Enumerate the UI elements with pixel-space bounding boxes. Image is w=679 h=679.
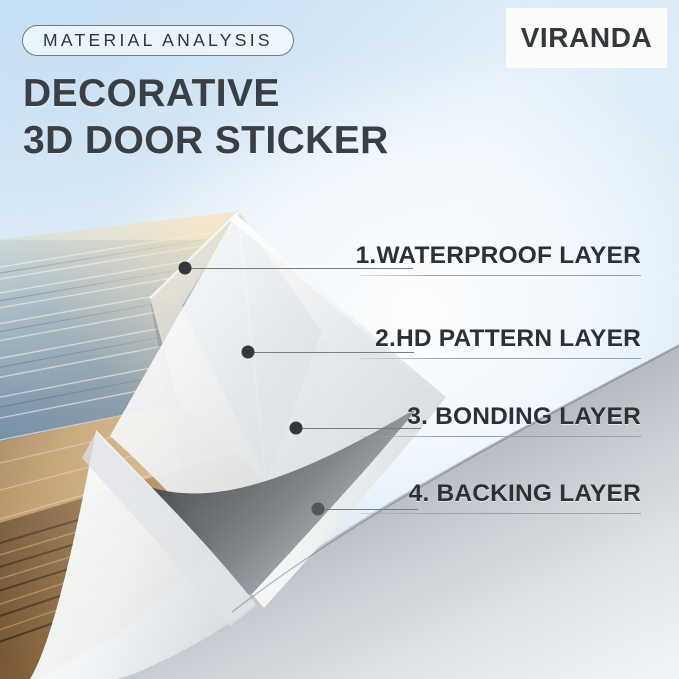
callout-dot-bonding [290, 422, 303, 435]
eyebrow-label: MATERIAL ANALYSIS [43, 30, 273, 51]
callout-dot-hd-pattern [242, 346, 255, 359]
poster-canvas: MATERIAL ANALYSIS DECORATIVE 3D DOOR STI… [0, 0, 679, 679]
callout-bonding: 3. BONDING LAYER [359, 405, 641, 437]
eyebrow-pill: MATERIAL ANALYSIS [22, 25, 294, 56]
brand-logo: VIRANDA [506, 8, 667, 68]
callout-label: 2.HD PATTERN LAYER [359, 327, 641, 352]
brand-name: VIRANDA [521, 22, 653, 54]
callout-underline [359, 275, 641, 276]
page-title-line-1: DECORATIVE [23, 74, 280, 113]
callout-label: 1.WATERPROOF LAYER [356, 244, 641, 269]
callout-dot-waterproof [179, 262, 192, 275]
callout-underline [359, 436, 641, 437]
callout-hd-pattern: 2.HD PATTERN LAYER [359, 327, 641, 359]
callout-waterproof: 1.WATERPROOF LAYER [356, 244, 641, 276]
callout-underline [359, 513, 641, 514]
callout-backing: 4. BACKING LAYER [359, 482, 641, 514]
callout-label: 3. BONDING LAYER [359, 405, 641, 430]
callout-underline [359, 358, 641, 359]
callout-dot-backing [312, 503, 325, 516]
page-title-line-2: 3D DOOR STICKER [23, 121, 389, 160]
callout-label: 4. BACKING LAYER [359, 482, 641, 507]
